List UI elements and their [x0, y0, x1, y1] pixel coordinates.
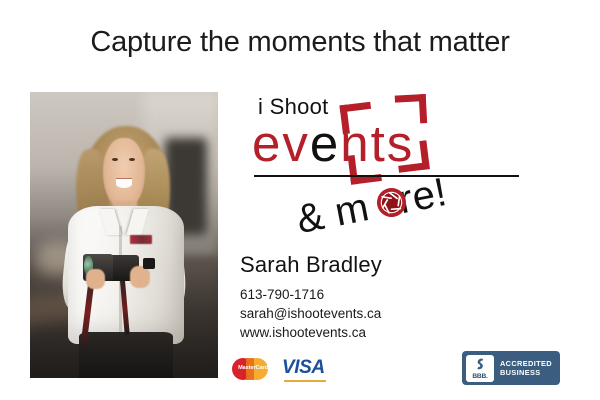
contact-block: Sarah Bradley 613-790-1716 sarah@ishoote…: [240, 252, 540, 342]
photo-subject: [30, 92, 218, 378]
viewfinder-corner-top-left: [339, 102, 373, 135]
logo-word-highlight: e: [310, 115, 340, 172]
contact-phone[interactable]: 613-790-1716: [240, 285, 540, 304]
viewfinder-corner-bottom-right: [396, 140, 430, 173]
viewfinder-frame-icon: [339, 95, 434, 185]
bbb-accredited-badge[interactable]: BBB. ACCREDITED BUSINESS: [462, 351, 560, 385]
contact-email[interactable]: sarah@ishootevents.ca: [240, 304, 540, 323]
contact-name: Sarah Bradley: [240, 252, 540, 278]
viewfinder-corner-top-right: [395, 94, 427, 125]
bbb-text-block: ACCREDITED BUSINESS: [500, 359, 552, 377]
smile: [116, 179, 133, 188]
black-pants: [79, 332, 173, 378]
wristwatch: [143, 258, 155, 269]
bbb-line-business: BUSINESS: [500, 368, 552, 377]
hand-left: [86, 269, 105, 289]
page-title: Capture the moments that matter: [0, 26, 600, 59]
portrait-photo: [30, 92, 218, 378]
bbb-abbr-label: BBB.: [472, 373, 487, 380]
logo-word-part1: ev: [252, 115, 310, 172]
bbb-torch-icon: [472, 357, 489, 374]
mastercard-icon: MasterCard: [232, 356, 274, 382]
hand-right: [130, 266, 151, 287]
shirt-embroidered-logo: [130, 235, 153, 244]
contact-website[interactable]: www.ishootevents.ca: [240, 323, 540, 342]
face: [103, 138, 144, 210]
brand-logo: i Shoot events & mre!: [248, 92, 538, 242]
mastercard-label: MasterCard: [232, 365, 274, 371]
logo-secondary-pre: & m: [293, 185, 373, 242]
payment-badges: MasterCard VISA: [232, 356, 325, 382]
bbb-line-accredited: ACCREDITED: [500, 359, 552, 368]
bbb-logo-mark: BBB.: [466, 355, 494, 382]
viewfinder-corner-bottom-left: [348, 152, 382, 185]
business-card: Capture the moments that matter: [0, 0, 600, 400]
visa-icon: VISA: [282, 357, 325, 382]
logo-divider-rule: [254, 175, 519, 177]
camera-aperture-icon: [373, 184, 409, 220]
